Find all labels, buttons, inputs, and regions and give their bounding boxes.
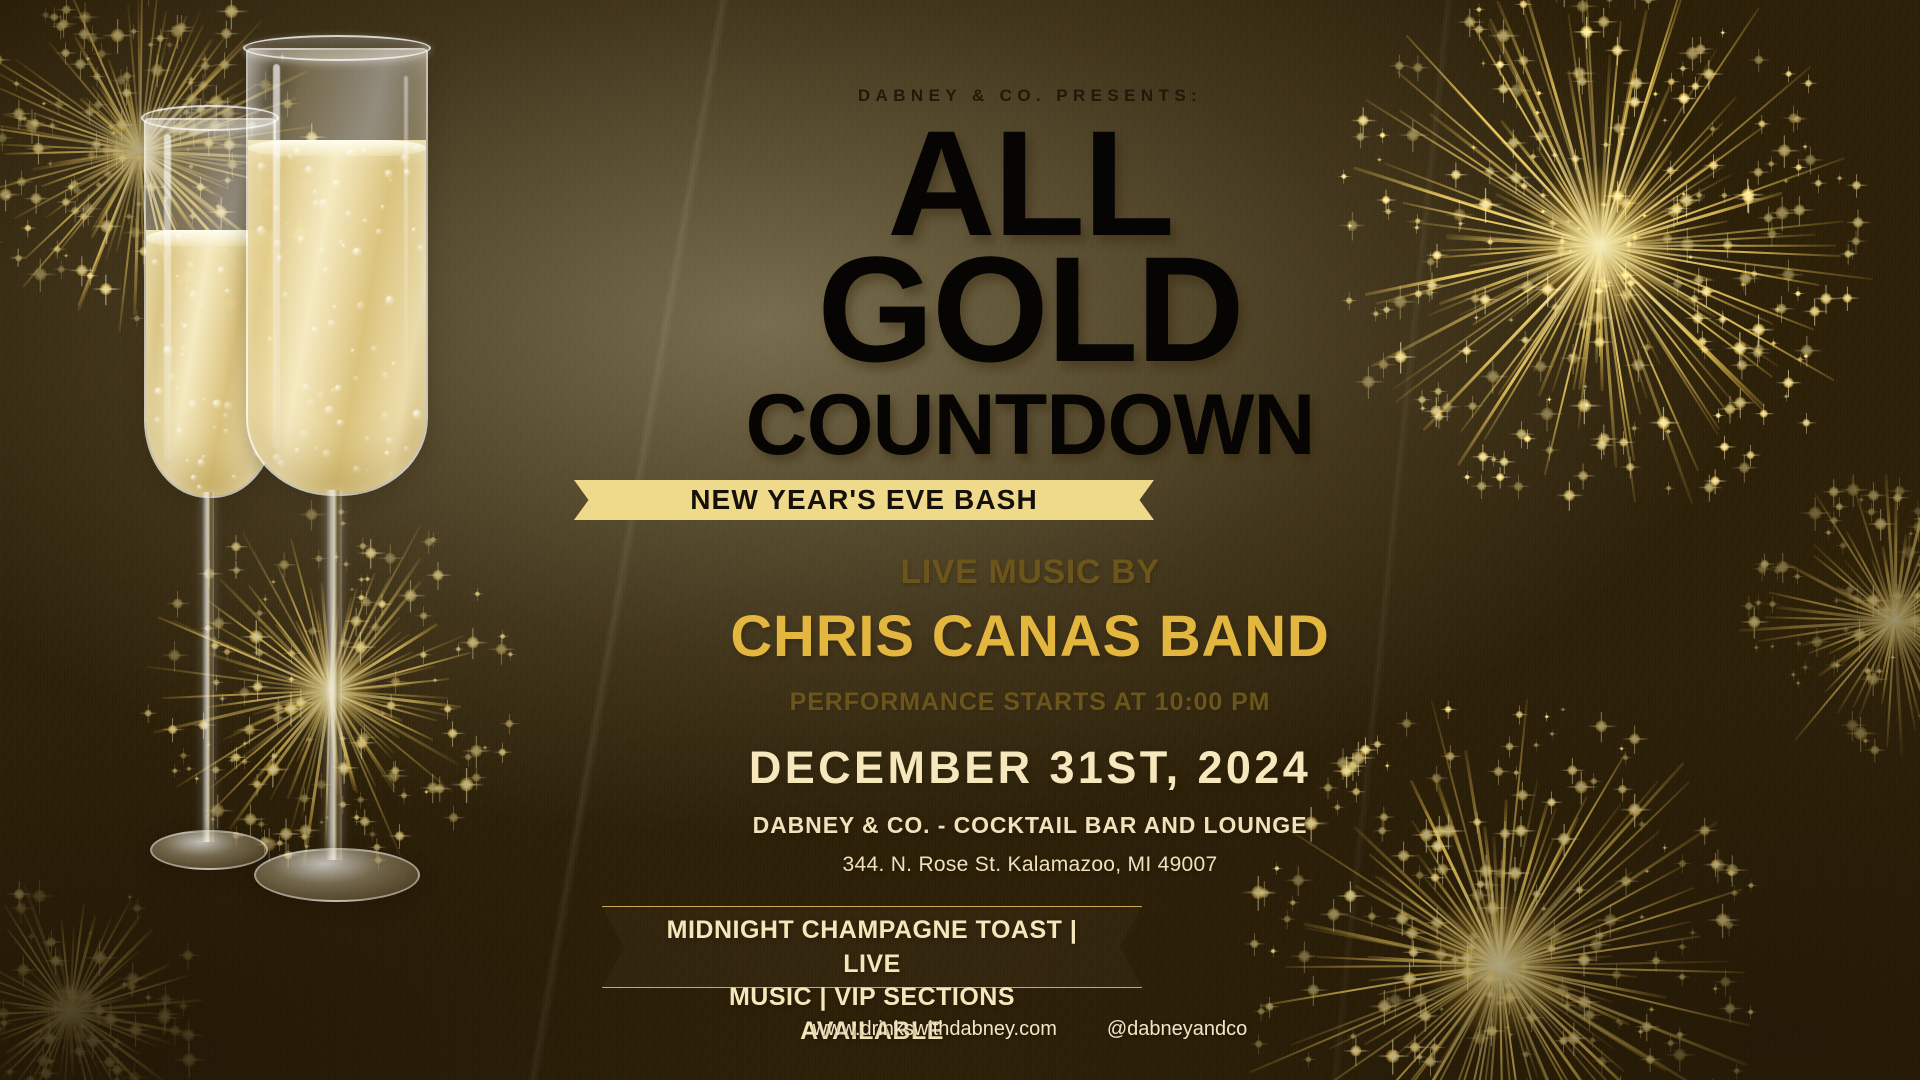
champagne-bubble xyxy=(323,267,329,273)
champagne-bubble xyxy=(371,346,377,352)
event-date: DECEMBER 31ST, 2024 xyxy=(560,742,1500,794)
champagne-bubble xyxy=(313,200,319,206)
website-link[interactable]: www.drinkswithdabney.com xyxy=(813,1018,1057,1041)
champagne-bubble xyxy=(385,170,392,177)
champagne-bubble xyxy=(255,481,258,484)
subtitle-ribbon: NEW YEAR'S EVE BASH xyxy=(574,480,1154,520)
champagne-bubble xyxy=(413,410,421,418)
champagne-bubble xyxy=(386,296,394,304)
glass-foot xyxy=(254,848,420,902)
champagne-bubble xyxy=(298,236,304,242)
features-ribbon: MIDNIGHT CHAMPAGNE TOAST | LIVE MUSIC | … xyxy=(602,906,1142,988)
champagne-bubble xyxy=(392,362,394,364)
champagne-bubble xyxy=(386,437,392,443)
champagne-bubble xyxy=(328,320,334,326)
subtitle-ribbon-label: NEW YEAR'S EVE BASH xyxy=(574,480,1154,520)
champagne-bubble xyxy=(404,446,409,451)
champagne-bubble xyxy=(325,406,332,413)
venue-address: 344. N. Rose St. Kalamazoo, MI 49007 xyxy=(560,853,1500,877)
champagne-bubble xyxy=(382,412,389,419)
social-handle[interactable]: @dabneyandco xyxy=(1107,1018,1247,1041)
champagne-bubble xyxy=(414,145,419,150)
band-name: CHRIS CANAS BAND xyxy=(560,603,1500,670)
champagne-bubble xyxy=(412,228,415,231)
champagne-bubble xyxy=(278,460,284,466)
venue-name: DABNEY & CO. - COCKTAIL BAR AND LOUNGE xyxy=(560,812,1500,839)
champagne-bubble xyxy=(362,148,366,152)
champagne-bubble xyxy=(381,205,384,208)
champagne-bubble xyxy=(385,483,388,486)
champagne-bubble xyxy=(376,229,382,235)
champagne-bubble xyxy=(283,292,288,297)
champagne-bubble xyxy=(353,466,360,473)
champagne-bubble xyxy=(305,166,313,174)
champagne-bubble xyxy=(351,349,354,352)
glass-highlight-secondary xyxy=(404,76,408,372)
champagne-bubble xyxy=(303,384,310,391)
champagne-bubble xyxy=(323,450,330,457)
champagne-bubble xyxy=(268,337,272,341)
glass-bowl xyxy=(246,48,428,496)
features-line-1: MIDNIGHT CHAMPAGNE TOAST | LIVE xyxy=(656,914,1088,981)
performance-time: PERFORMANCE STARTS AT 10:00 PM xyxy=(560,688,1500,717)
champagne-bubble xyxy=(257,226,265,234)
champagne-bubble xyxy=(333,305,336,308)
title-line-countdown: COUNTDOWN xyxy=(560,382,1500,468)
champagne-bubble xyxy=(288,155,292,159)
champagne-bubble xyxy=(307,399,314,406)
champagne-bubble xyxy=(318,392,325,399)
champagne-bubble xyxy=(313,190,317,194)
champagne-bubble xyxy=(365,436,370,441)
champagne-bubble xyxy=(261,461,264,464)
champagne-bubble xyxy=(320,199,327,206)
champagne-bubble xyxy=(418,245,423,250)
poster-canvas: DABNEY & CO. PRESENTS: ALL GOLD COUNTDOW… xyxy=(0,0,1920,1080)
poster-text-content: DABNEY & CO. PRESENTS: ALL GOLD COUNTDOW… xyxy=(560,0,1500,1080)
poster-footer: www.drinkswithdabney.com @dabneyandco xyxy=(560,1018,1500,1041)
champagne-bubble xyxy=(294,148,300,154)
champagne-bubble xyxy=(363,219,367,223)
champagne-bubble xyxy=(333,180,340,187)
champagne-bubble xyxy=(346,211,351,216)
champagne-bubble xyxy=(300,430,308,438)
champagne-bubble xyxy=(366,469,368,471)
champagne-bubble xyxy=(389,179,392,182)
champagne-bubble xyxy=(353,248,361,256)
champagne-glasses-illustration xyxy=(96,30,516,1080)
live-music-label: LIVE MUSIC BY xyxy=(560,553,1500,592)
champagne-bubble xyxy=(335,385,341,391)
champagne-bubble xyxy=(315,447,318,450)
glass-highlight xyxy=(273,64,280,449)
champagne-bubble xyxy=(312,327,317,332)
glass-rim xyxy=(243,35,431,61)
champagne-bubble xyxy=(320,248,324,252)
champagne-bubble xyxy=(390,472,392,474)
title-line-gold: GOLD xyxy=(560,246,1500,372)
glass-stem xyxy=(326,490,342,860)
champagne-bubble xyxy=(342,244,345,247)
champagne-bubble xyxy=(337,420,342,425)
champagne-bubble xyxy=(382,372,388,378)
champagne-bubble xyxy=(385,451,389,455)
champagne-bubble xyxy=(258,163,265,170)
champagne-flute-front xyxy=(96,30,516,1080)
champagne-bubble xyxy=(295,448,299,452)
champagne-bubble xyxy=(354,376,358,380)
champagne-bubble xyxy=(357,302,364,309)
